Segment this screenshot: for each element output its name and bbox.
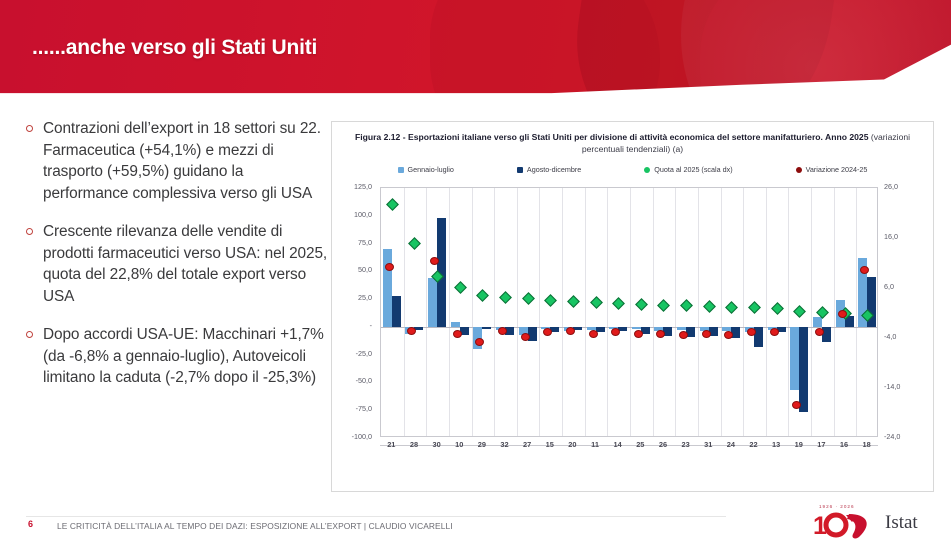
variazione-dot-marker [634,330,643,338]
x-tick-label: 28 [403,440,425,449]
x-tick-label: 22 [743,440,765,449]
grid-line [517,188,518,436]
grid-line [562,188,563,436]
grid-line [698,188,699,436]
grid-line [449,188,450,436]
x-tick-label: 19 [788,440,810,449]
variazione-dot-marker [792,401,801,409]
bar-light [383,249,392,327]
quota-diamond-marker [544,294,557,307]
variazione-dot-marker [543,328,552,336]
istat-logo: 1926 · 2026 1 Istat [809,504,931,542]
y-tick-left: -100,0 [338,432,372,441]
logo-anniversary-text: 1926 · 2026 [819,504,855,509]
grid-line [472,188,473,436]
grid-line [585,188,586,436]
variazione-dot-marker [521,333,530,341]
quota-diamond-marker [635,298,648,311]
y-tick-left: -75,0 [338,404,372,413]
y-tick-right: 16,0 [884,232,918,241]
x-tick-label: 15 [539,440,561,449]
variazione-dot-marker [656,330,665,338]
bullet-marker-icon [26,324,43,389]
x-tick-label: 31 [697,440,719,449]
quota-diamond-marker [409,237,422,250]
legend-key-icon [796,167,802,173]
legend-label: Variazione 2024-25 [806,165,868,174]
grid-line [743,188,744,436]
variazione-dot-marker [860,266,869,274]
logo-wordmark: Istat [885,512,918,534]
chart-panel: Figura 2.12 - Esportazioni italiane vers… [331,121,934,492]
chart-title-bold: Figura 2.12 - Esportazioni italiane vers… [355,132,869,142]
quota-diamond-marker [454,281,467,294]
variazione-dot-marker [407,327,416,335]
quota-diamond-marker [612,297,625,310]
y-tick-left: -25,0 [338,349,372,358]
bullet-marker-icon [26,221,43,307]
bullet-marker-icon [26,118,43,204]
grid-line [607,188,608,436]
grid-line [653,188,654,436]
footer-caption: LE CRITICITÀ DELL’ITALIA AL TEMPO DEI DA… [57,521,453,531]
x-tick-label: 17 [810,440,832,449]
grid-line [766,188,767,436]
logo-mark-icon: 1 [813,510,883,545]
bar-light [677,327,686,330]
x-tick-label: 29 [471,440,493,449]
quota-diamond-marker [725,301,738,314]
y-tick-left: 25,0 [338,293,372,302]
x-tick-label: 26 [652,440,674,449]
variazione-dot-marker [702,330,711,338]
x-tick-label: 21 [380,440,402,449]
bullet-text: Contrazioni dell’export in 18 settori su… [43,118,331,204]
x-tick-label: 23 [675,440,697,449]
quota-diamond-marker [680,299,693,312]
bar-light [632,327,641,329]
y-tick-right: -4,0 [884,332,918,341]
quota-diamond-marker [567,295,580,308]
x-tick-label: 14 [607,440,629,449]
footer-divider [26,516,726,517]
legend-key-icon [644,167,650,173]
variazione-dot-marker [679,331,688,339]
x-tick-label: 18 [856,440,878,449]
list-item: Contrazioni dell’export in 18 settori su… [26,118,331,204]
x-tick-label: 20 [561,440,583,449]
x-tick-label: 25 [629,440,651,449]
quota-diamond-marker [499,291,512,304]
grid-line [404,188,405,436]
variazione-dot-marker [475,338,484,346]
x-tick-label: 30 [426,440,448,449]
legend-label: Agosto-dicembre [527,165,581,174]
variazione-dot-marker [453,330,462,338]
y-tick-right: -14,0 [884,382,918,391]
legend-key-icon [517,167,523,173]
bar-light [428,278,437,327]
x-tick-label: 27 [516,440,538,449]
bullet-list: Contrazioni dell’export in 18 settori su… [26,118,331,406]
page-number: 6 [28,519,33,529]
variazione-dot-marker [385,263,394,271]
grid-line [788,188,789,436]
bar-light [813,317,822,327]
list-item: Crescente rilevanza delle vendite di pro… [26,221,331,307]
plot-area-wrapper: 125,0100,075,050,025,0--25,0-50,0-75,0-1… [332,184,935,493]
variazione-dot-marker [724,331,733,339]
variazione-dot-marker [770,328,779,336]
x-tick-label: 10 [448,440,470,449]
list-item: Dopo accordi USA-UE: Macchinari +1,7% (d… [26,324,331,389]
legend-label: Gennaio-luglio [408,165,454,174]
quota-diamond-marker [658,299,671,312]
legend-label: Quota al 2025 (scala dx) [654,165,732,174]
legend-item-2: Quota al 2025 (scala dx) [644,165,732,174]
grid-line [630,188,631,436]
legend-item-1: Agosto-dicembre [517,165,581,174]
y-tick-left: 50,0 [338,265,372,274]
variazione-dot-marker [566,327,575,335]
chart-title: Figura 2.12 - Esportazioni italiane vers… [354,132,911,155]
y-tick-left: -50,0 [338,376,372,385]
x-tick-label: 13 [765,440,787,449]
plot-area [380,187,878,437]
quota-diamond-marker [748,301,761,314]
bar-dark [482,327,491,329]
slide-title: ......anche verso gli Stati Uniti [32,36,317,60]
y-tick-left: - [338,321,372,330]
quota-diamond-marker [590,296,603,309]
x-tick-label: 11 [584,440,606,449]
grid-line [811,188,812,436]
grid-line [539,188,540,436]
quota-diamond-marker [522,292,535,305]
x-tick-label: 32 [494,440,516,449]
grid-line [721,188,722,436]
grid-line [675,188,676,436]
quota-diamond-marker [386,198,399,211]
grid-line [494,188,495,436]
x-tick-label: 24 [720,440,742,449]
quota-diamond-marker [771,302,784,315]
variazione-dot-marker [430,257,439,265]
bar-dark [799,327,808,413]
y-tick-right: -24,0 [884,432,918,441]
x-tick-label: 16 [833,440,855,449]
variazione-dot-marker [589,330,598,338]
bar-light [451,322,460,326]
bar-dark [392,296,401,327]
y-tick-right: 26,0 [884,182,918,191]
bullet-text: Crescente rilevanza delle vendite di pro… [43,221,331,307]
chart-legend: Gennaio-luglioAgosto-dicembreQuota al 20… [366,165,899,174]
y-tick-left: 75,0 [338,238,372,247]
y-tick-left: 100,0 [338,210,372,219]
quota-diamond-marker [793,305,806,318]
bullet-text: Dopo accordi USA-UE: Macchinari +1,7% (d… [43,324,331,389]
variazione-dot-marker [611,328,620,336]
y-tick-right: 6,0 [884,282,918,291]
y-tick-left: 125,0 [338,182,372,191]
quota-diamond-marker [703,300,716,313]
quota-diamond-marker [476,289,489,302]
bar-light [790,327,799,390]
legend-key-icon [398,167,404,173]
legend-item-0: Gennaio-luglio [398,165,454,174]
legend-item-3: Variazione 2024-25 [796,165,868,174]
variazione-dot-marker [838,310,847,318]
